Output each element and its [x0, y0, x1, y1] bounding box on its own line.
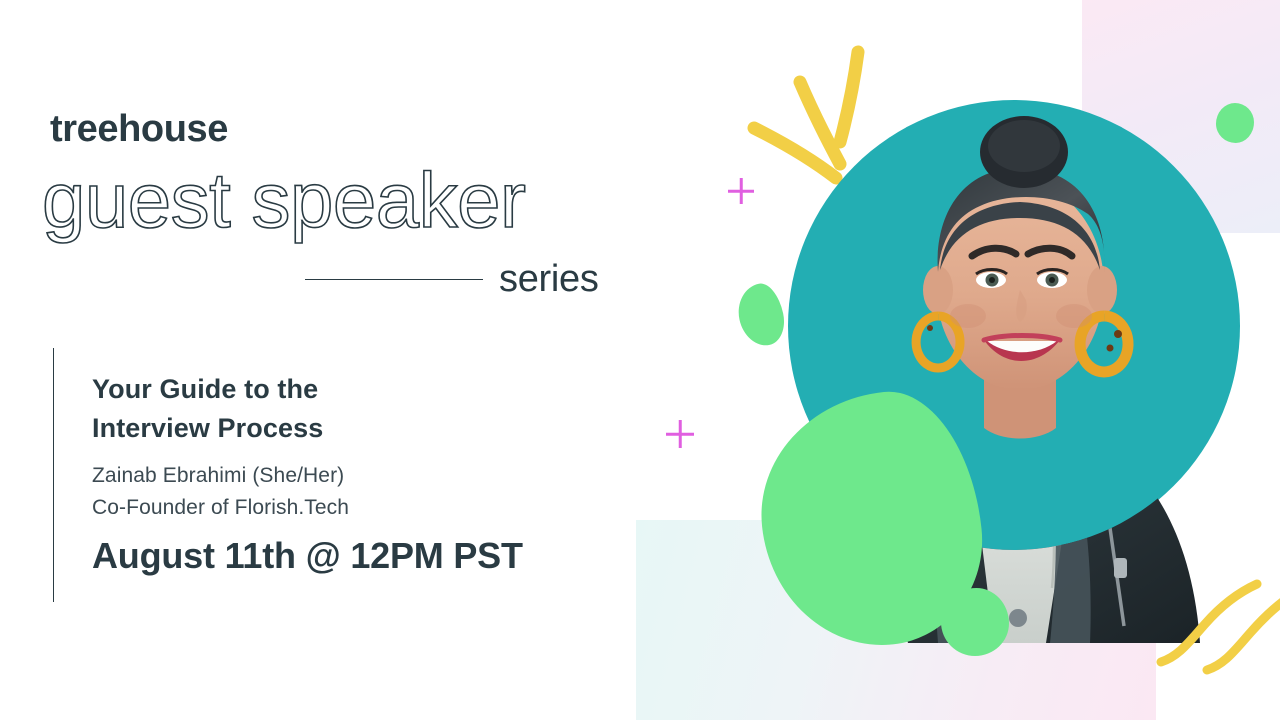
headline-guest-speaker: guest speaker: [42, 160, 525, 242]
speaker-role: Co-Founder of Florish.Tech: [92, 492, 349, 524]
talk-title-line-1: Your Guide to the: [92, 370, 323, 409]
speaker-info: Zainab Ebrahimi (She/Her) Co-Founder of …: [92, 460, 349, 523]
green-blob-small: [733, 280, 789, 350]
event-datetime: August 11th @ 12PM PST: [92, 538, 523, 574]
yellow-squiggle-icon: [1155, 570, 1280, 690]
talk-title-line-2: Interview Process: [92, 409, 323, 448]
promo-slide: treehouse guest speaker series Your Guid…: [0, 0, 1280, 720]
series-row: series: [305, 258, 599, 301]
details-vertical-rule: [53, 348, 54, 602]
brand-wordmark: treehouse: [50, 110, 228, 148]
green-blob-dot: [941, 588, 1009, 656]
series-divider-rule: [305, 279, 483, 281]
magenta-plus-icon-upper: [728, 178, 754, 204]
magenta-plus-icon-lower: [666, 420, 694, 448]
series-label: series: [499, 258, 599, 301]
talk-title: Your Guide to the Interview Process: [92, 370, 323, 447]
green-blob-top-right: [1216, 103, 1254, 143]
speaker-name: Zainab Ebrahimi (She/Her): [92, 460, 349, 492]
